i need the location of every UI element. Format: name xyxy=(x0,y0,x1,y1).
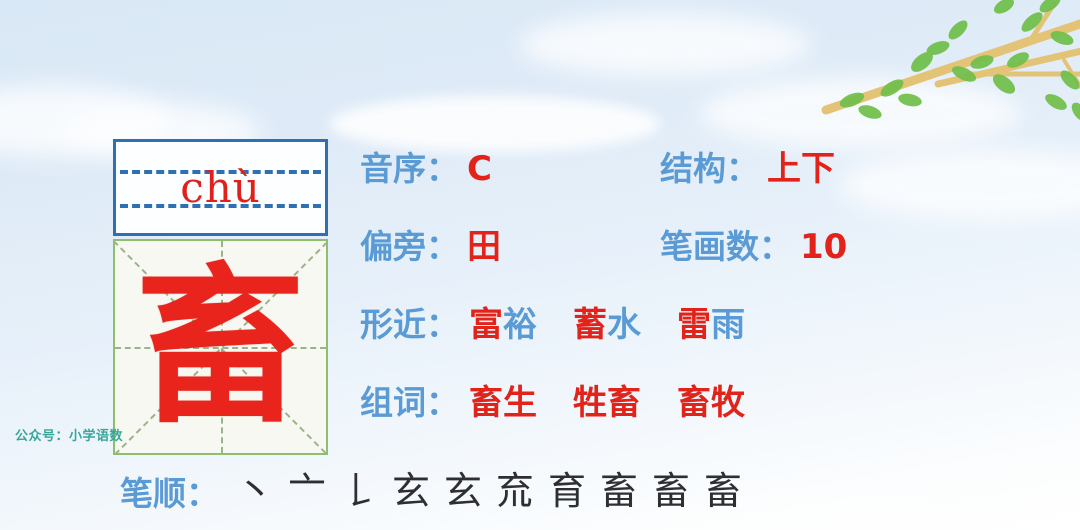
stroke-order-sequence: 丶 亠 𠄌 玄 玄 㐬 育 畜 畜 畜 xyxy=(229,472,749,510)
word-text: 畜牧 xyxy=(677,386,745,420)
word-text: 牲畜 xyxy=(573,386,641,420)
stroke-step: 𠄌 xyxy=(333,472,385,510)
field-similar-characters: 形近： 富 裕 蓄 水 雷 雨 xyxy=(360,308,745,342)
similar-word: 富 裕 xyxy=(469,308,537,342)
similar-word: 蓄 水 xyxy=(573,308,641,342)
similar-word-second-char: 裕 xyxy=(503,308,537,342)
word-item: 牲畜 xyxy=(573,386,641,420)
stroke-count-label: 笔画数： xyxy=(660,230,792,263)
stroke-order-label: 笔顺： xyxy=(120,477,219,510)
structure-value: 上下 xyxy=(767,152,835,186)
words-label: 组词： xyxy=(360,386,459,419)
radical-value: 田 xyxy=(467,230,501,264)
tree-branch-decoration xyxy=(818,0,1080,128)
field-phonetic-order: 音序： C xyxy=(360,152,492,186)
word-text: 畜生 xyxy=(469,386,537,420)
info-row-2: 偏旁： 田 笔画数： 10 xyxy=(360,224,920,302)
character-learning-card: chù 畜 公众号：小学语数 音序： C 结构： 上下 偏旁： 田 xyxy=(0,0,1080,530)
field-words: 组词： 畜生 牲畜 畜牧 xyxy=(360,386,745,420)
similar-word-second-char: 雨 xyxy=(711,308,745,342)
info-row-words: 组词： 畜生 牲畜 畜牧 xyxy=(360,380,920,458)
similar-word: 雷 雨 xyxy=(677,308,745,342)
stroke-step: 玄 xyxy=(385,472,437,510)
stroke-step: 畜 xyxy=(645,472,697,510)
main-character: 畜 xyxy=(115,241,326,453)
watermark: 公众号：小学语数 xyxy=(15,425,123,444)
stroke-order-row: 笔顺： 丶 亠 𠄌 玄 玄 㐬 育 畜 畜 畜 xyxy=(120,472,749,510)
phonetic-order-value: C xyxy=(467,152,492,186)
phonetic-order-label: 音序： xyxy=(360,152,459,185)
similar-label: 形近： xyxy=(360,308,459,341)
similar-word-first-char: 雷 xyxy=(677,308,711,342)
info-row-1: 音序： C 结构： 上下 xyxy=(360,146,920,224)
word-item: 畜牧 xyxy=(677,386,745,420)
stroke-step: 丶 xyxy=(229,472,281,510)
stroke-step: 亠 xyxy=(281,472,333,510)
word-item: 畜生 xyxy=(469,386,537,420)
stroke-step: 畜 xyxy=(697,472,749,510)
stroke-step: 育 xyxy=(541,472,593,510)
radical-label: 偏旁： xyxy=(360,230,459,263)
character-grid: 畜 xyxy=(113,239,328,455)
field-structure: 结构： 上下 xyxy=(660,152,835,186)
similar-word-first-char: 蓄 xyxy=(573,308,607,342)
info-panel: 音序： C 结构： 上下 偏旁： 田 笔画数： 10 形近： 富 xyxy=(360,146,920,458)
info-row-similar: 形近： 富 裕 蓄 水 雷 雨 xyxy=(360,302,920,380)
similar-word-second-char: 水 xyxy=(607,308,641,342)
stroke-step: 畜 xyxy=(593,472,645,510)
similar-word-first-char: 富 xyxy=(469,308,503,342)
stroke-step: 㐬 xyxy=(489,472,541,510)
cloud-decoration xyxy=(520,14,810,76)
field-radical: 偏旁： 田 xyxy=(360,230,501,264)
pinyin-text: chù xyxy=(116,167,325,209)
cloud-decoration xyxy=(330,96,660,152)
stroke-count-value: 10 xyxy=(800,230,847,264)
pinyin-box: chù xyxy=(113,139,328,236)
field-stroke-count: 笔画数： 10 xyxy=(660,230,847,264)
structure-label: 结构： xyxy=(660,152,759,185)
stroke-step: 玄 xyxy=(437,472,489,510)
